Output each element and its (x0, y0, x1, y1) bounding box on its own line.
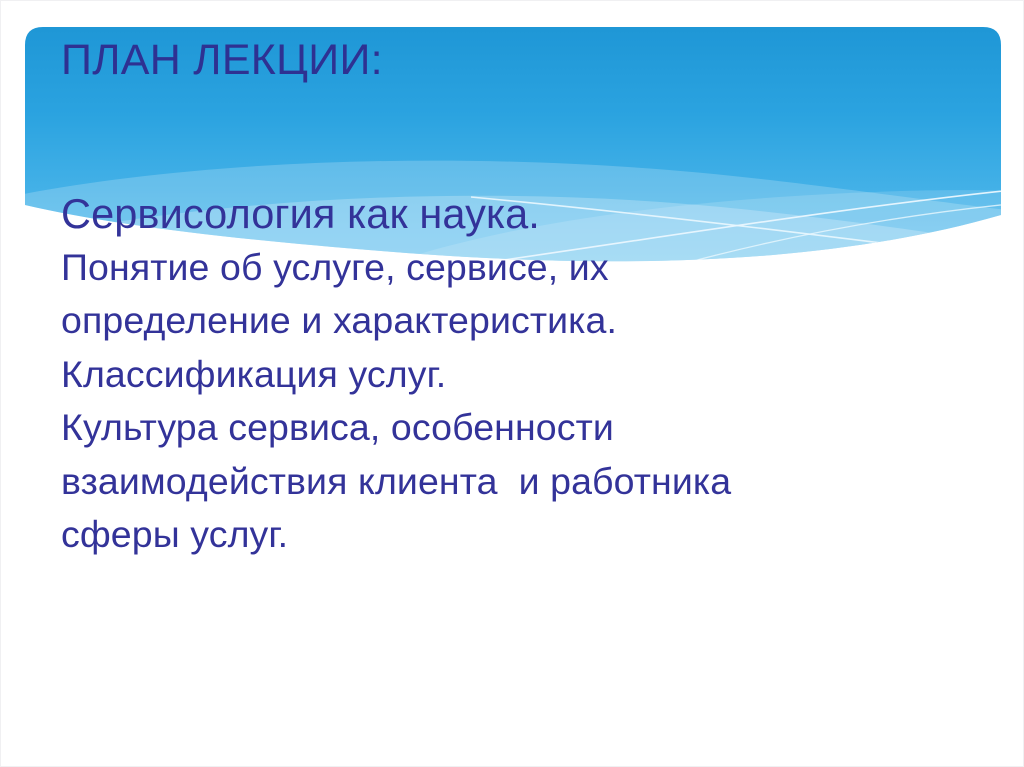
body-line: определение и характеристика. (61, 294, 1011, 348)
slide-body: Сервисология как наука. Понятие об услуг… (61, 187, 1011, 562)
body-line: взаимодействия клиента и работника (61, 455, 1011, 509)
body-line: Культура сервиса, особенности (61, 401, 1011, 455)
body-line: Сервисология как наука. (61, 187, 1011, 241)
body-line: Понятие об услуге, сервисе, их (61, 241, 1011, 295)
presentation-slide: ПЛАН ЛЕКЦИИ: Сервисология как наука. Пон… (0, 0, 1024, 767)
body-line: сферы услуг. (61, 508, 1011, 562)
slide-title: ПЛАН ЛЕКЦИИ: (61, 37, 981, 83)
body-line: Классификация услуг. (61, 348, 1011, 402)
